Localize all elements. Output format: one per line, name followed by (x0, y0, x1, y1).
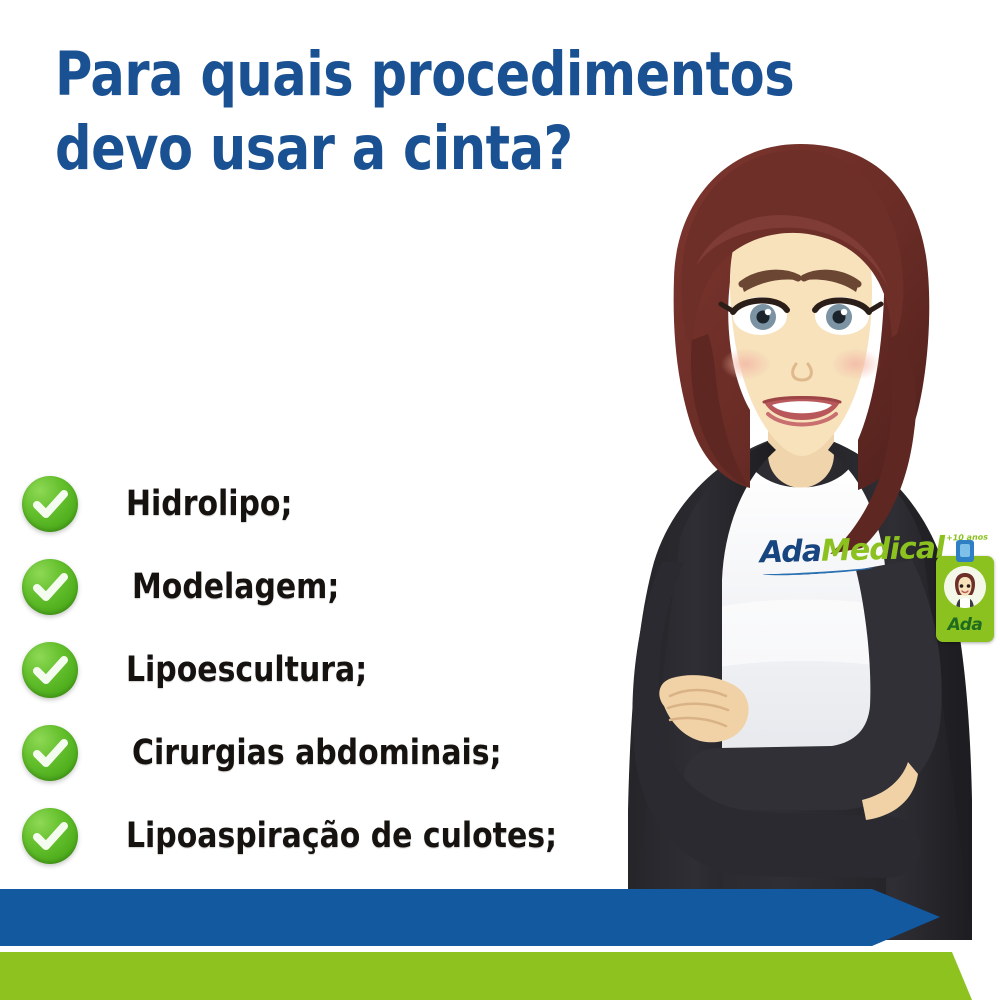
list-item-label: Hidrolipo; (126, 484, 292, 524)
shirt-logo: AdaMedical +10 anos (760, 534, 945, 569)
green-check-circle-icon (22, 476, 78, 532)
list-item: Modelagem; (22, 545, 580, 628)
badge-avatar (944, 566, 986, 608)
list-item: Lipoaspiração de culotes; (22, 794, 580, 877)
logo-medical-text: Medical (821, 531, 945, 569)
badge-name-text: Ada (936, 615, 994, 635)
green-check-circle-icon (22, 559, 78, 615)
id-badge: Ada (936, 556, 994, 642)
logo-ada-text: Ada (760, 534, 822, 571)
list-item-label: Lipoaspiração de culotes; (126, 816, 557, 856)
list-item-label: Cirurgias abdominais; (132, 733, 502, 773)
green-check-circle-icon (22, 642, 78, 698)
list-item: Lipoescultura; (22, 628, 580, 711)
ada-nurse-illustration (600, 110, 1000, 940)
green-check-circle-icon (22, 808, 78, 864)
footer-blue-arrow-bar (0, 889, 1000, 946)
list-item-label: Modelagem; (132, 567, 339, 607)
list-item-label: Lipoescultura; (126, 650, 367, 690)
badge-clip-icon (956, 540, 974, 562)
page-title: Para quais procedimentos devo usar a cin… (55, 38, 827, 186)
procedures-checklist: Hidrolipo; Modelagem; Lipoescultura; (22, 462, 580, 877)
green-check-circle-icon (22, 725, 78, 781)
list-item: Hidrolipo; (22, 462, 580, 545)
list-item: Cirurgias abdominais; (22, 711, 580, 794)
footer-green-bar (0, 952, 1000, 1000)
poster-canvas: Para quais procedimentos devo usar a cin… (0, 0, 1000, 1000)
